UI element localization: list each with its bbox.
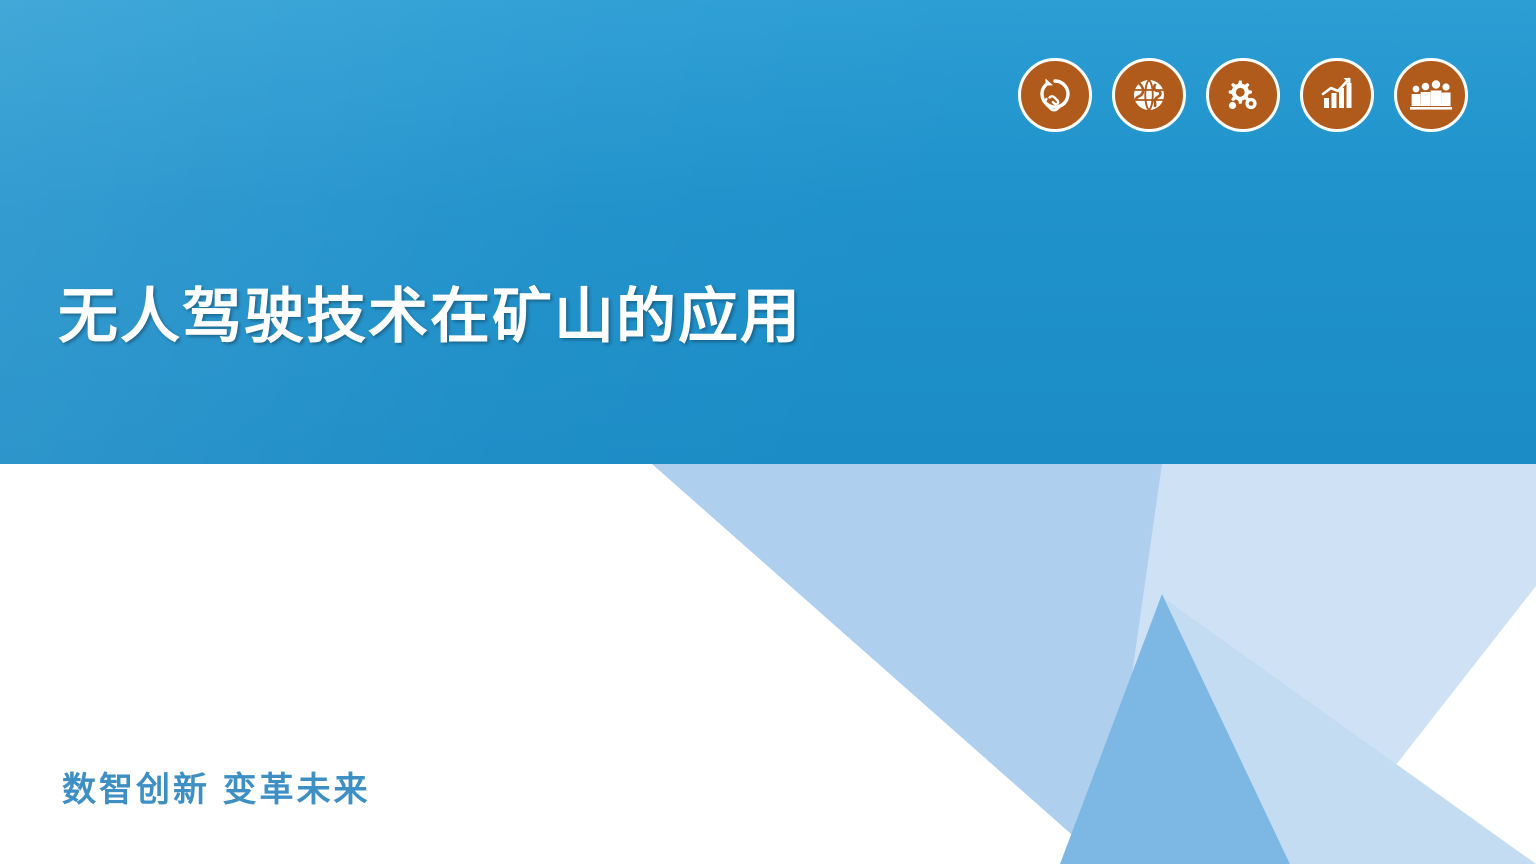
hand-refresh-icon [1018,58,1092,132]
globe-icon [1112,58,1186,132]
people-group-icon [1394,58,1468,132]
icon-badge-row [1018,58,1468,132]
page-title: 无人驾驶技术在矿山的应用 [58,268,802,355]
gears-icon [1206,58,1280,132]
bar-chart-growth-icon [1300,58,1374,132]
slide-tagline: 数智创新 变革未来 [62,762,370,811]
presentation-slide: 无人驾驶技术在矿山的应用 数智创新 变革未来 [0,0,1536,864]
